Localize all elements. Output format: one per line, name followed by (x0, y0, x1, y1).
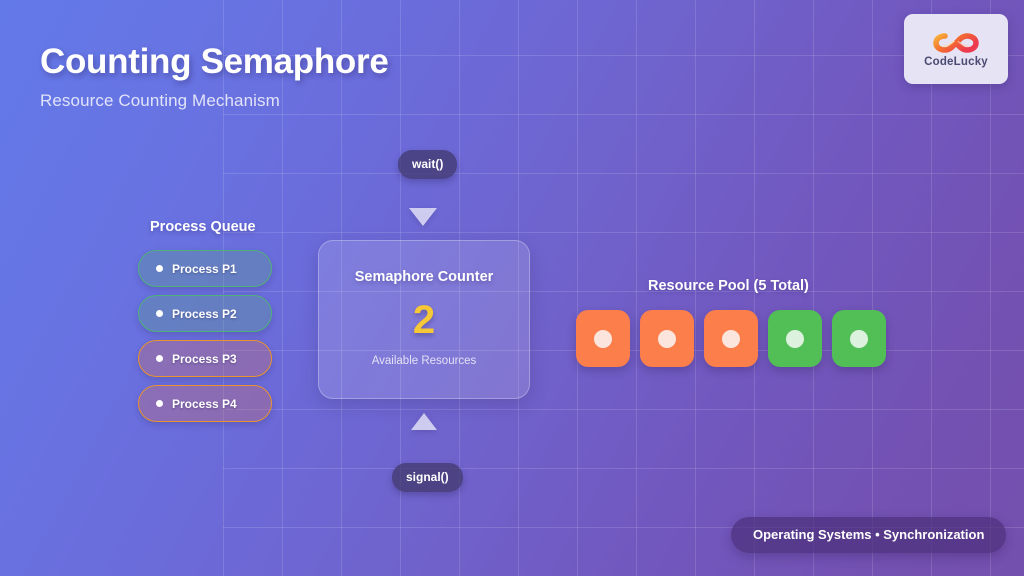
semaphore-counter-value: 2 (413, 297, 435, 343)
resource-pool-row (576, 310, 886, 367)
semaphore-counter-title: Semaphore Counter (355, 269, 494, 285)
list-item[interactable]: Process P4 (138, 385, 272, 422)
status-dot-icon (156, 355, 163, 362)
footer-topic-badge: Operating Systems • Synchronization (731, 517, 1006, 553)
resource-slot-available[interactable] (768, 310, 822, 367)
resource-slot-used[interactable] (640, 310, 694, 367)
resource-dot-icon (594, 330, 612, 348)
resource-slot-used[interactable] (704, 310, 758, 367)
resource-dot-icon (850, 330, 868, 348)
status-dot-icon (156, 310, 163, 317)
semaphore-counter-caption: Available Resources (372, 355, 477, 367)
page-title: Counting Semaphore (40, 42, 389, 82)
semaphore-counter-card: Semaphore Counter 2 Available Resources (318, 240, 530, 399)
process-queue-title: Process Queue (150, 219, 256, 235)
wait-operation-pill[interactable]: wait() (398, 150, 457, 179)
process-label: Process P4 (172, 397, 237, 411)
signal-operation-pill[interactable]: signal() (392, 463, 463, 492)
list-item[interactable]: Process P2 (138, 295, 272, 332)
status-dot-icon (156, 400, 163, 407)
process-label: Process P2 (172, 307, 237, 321)
process-queue-list: Process P1 Process P2 Process P3 Process… (138, 250, 272, 422)
process-label: Process P3 (172, 352, 237, 366)
triangle-down-icon (409, 208, 437, 226)
list-item[interactable]: Process P1 (138, 250, 272, 287)
resource-slot-available[interactable] (832, 310, 886, 367)
resource-slot-used[interactable] (576, 310, 630, 367)
resource-pool-title: Resource Pool (5 Total) (648, 278, 809, 294)
status-dot-icon (156, 265, 163, 272)
resource-dot-icon (786, 330, 804, 348)
brand-name: CodeLucky (924, 56, 988, 68)
slide-canvas: Counting Semaphore Resource Counting Mec… (0, 0, 1024, 576)
brand-logo-card: CodeLucky (904, 14, 1008, 84)
process-label: Process P1 (172, 262, 237, 276)
infinity-icon (933, 31, 979, 55)
list-item[interactable]: Process P3 (138, 340, 272, 377)
triangle-up-icon (411, 413, 437, 430)
resource-dot-icon (658, 330, 676, 348)
page-subtitle: Resource Counting Mechanism (40, 91, 280, 111)
resource-dot-icon (722, 330, 740, 348)
